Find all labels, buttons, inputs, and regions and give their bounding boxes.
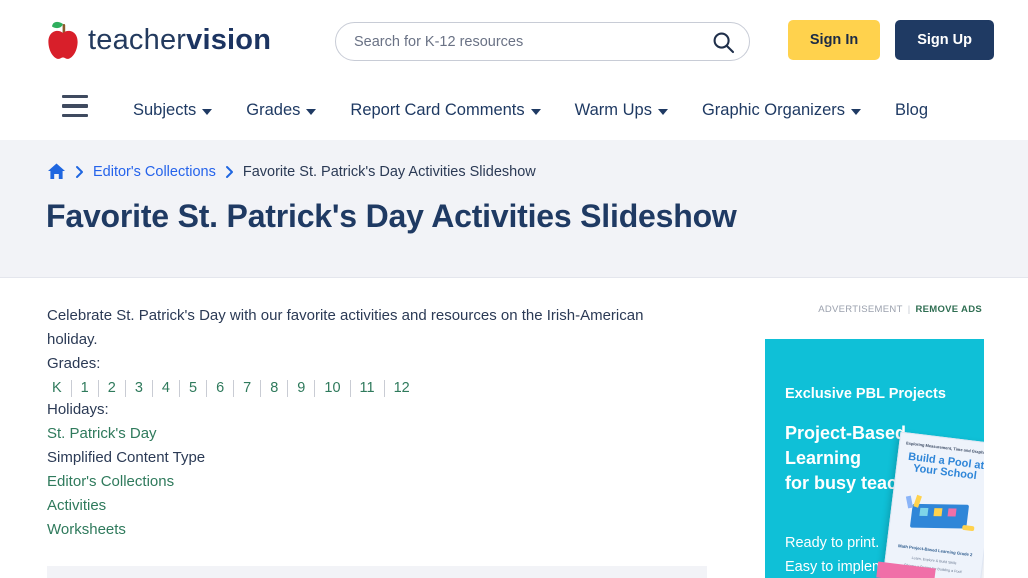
search-icon: [712, 31, 735, 54]
grade-link-1[interactable]: 1: [72, 379, 98, 398]
grade-link-2[interactable]: 2: [99, 379, 125, 398]
chevron-down-icon: [202, 109, 212, 115]
sign-in-button[interactable]: Sign In: [788, 20, 880, 60]
nav-item-blog[interactable]: Blog: [878, 80, 945, 140]
sign-up-button[interactable]: Sign Up: [895, 20, 994, 60]
title-band: Editor's Collections Favorite St. Patric…: [0, 140, 1028, 278]
ad-card-illustration: [901, 492, 980, 543]
type-link-worksheets[interactable]: Worksheets: [47, 518, 712, 542]
nav-label: Subjects: [133, 80, 196, 140]
page-root: teachervision Sign In Sign Up Subjects: [0, 0, 1028, 578]
hamburger-icon[interactable]: [62, 95, 88, 117]
grades-list: K 1 2 3 4 5 6 7 8 9 10: [47, 379, 712, 398]
nav-item-report-card-comments[interactable]: Report Card Comments: [333, 80, 557, 140]
auth-buttons: Sign In Sign Up: [788, 20, 994, 60]
chevron-down-icon: [658, 109, 668, 115]
grade-link-12[interactable]: 12: [385, 379, 419, 398]
logo-text-light: teacher: [88, 24, 186, 56]
breadcrumb-item-editors-collections[interactable]: Editor's Collections: [93, 164, 216, 180]
home-icon[interactable]: [47, 162, 66, 181]
top-header: teachervision Sign In Sign Up: [0, 0, 1028, 80]
nav-label: Report Card Comments: [350, 80, 524, 140]
apple-icon: [46, 20, 80, 60]
nav-item-subjects[interactable]: Subjects: [116, 80, 229, 140]
nav-label: Grades: [246, 80, 300, 140]
type-link-editors-collections[interactable]: Editor's Collections: [47, 470, 712, 494]
nav-label: Warm Ups: [575, 80, 652, 140]
nav-label: Graphic Organizers: [702, 80, 845, 140]
holiday-link-st-patricks-day[interactable]: St. Patrick's Day: [47, 422, 712, 446]
ad-worksheet-image: Exploring Measurement, Time and Graphing…: [882, 432, 984, 578]
chevron-right-icon: [225, 165, 234, 179]
grade-link-7[interactable]: 7: [234, 379, 260, 398]
ad-card-title: Build a Pool at Your School: [902, 451, 984, 483]
grade-link-k[interactable]: K: [47, 379, 71, 398]
nav-label: Blog: [895, 80, 928, 140]
breadcrumb-item-current: Favorite St. Patrick's Day Activities Sl…: [243, 164, 536, 180]
nav-item-warm-ups[interactable]: Warm Ups: [558, 80, 685, 140]
grade-link-4[interactable]: 4: [153, 379, 179, 398]
main-navigation: Subjects Grades Report Card Comments War…: [0, 80, 1028, 140]
breadcrumb: Editor's Collections Favorite St. Patric…: [47, 162, 536, 181]
grade-link-9[interactable]: 9: [288, 379, 314, 398]
site-logo[interactable]: teachervision: [46, 20, 271, 60]
chevron-down-icon: [851, 109, 861, 115]
nav-item-grades[interactable]: Grades: [229, 80, 333, 140]
grade-link-6[interactable]: 6: [207, 379, 233, 398]
nav-item-graphic-organizers[interactable]: Graphic Organizers: [685, 80, 878, 140]
advertisement-banner[interactable]: Exclusive PBL Projects Project-Based Lea…: [765, 339, 984, 578]
search-button[interactable]: [712, 31, 735, 54]
chevron-down-icon: [531, 109, 541, 115]
grade-link-3[interactable]: 3: [126, 379, 152, 398]
chevron-right-icon: [75, 165, 84, 179]
grade-link-10[interactable]: 10: [315, 379, 349, 398]
search-bar[interactable]: [335, 22, 750, 61]
grade-link-8[interactable]: 8: [261, 379, 287, 398]
grade-link-5[interactable]: 5: [180, 379, 206, 398]
logo-wordmark: teachervision: [88, 26, 271, 55]
advertisement-column: ADVERTISEMENT | REMOVE ADS Exclusive PBL…: [765, 304, 984, 578]
slideshow-placeholder: [47, 566, 707, 578]
ad-eyebrow: Exclusive PBL Projects: [785, 386, 946, 402]
search-input[interactable]: [336, 23, 676, 60]
type-link-activities[interactable]: Activities: [47, 494, 712, 518]
remove-ads-link[interactable]: REMOVE ADS: [915, 304, 982, 315]
resource-details: Celebrate St. Patrick's Day with our fav…: [47, 304, 712, 542]
logo-text-bold: vision: [186, 24, 271, 56]
advertisement-label: ADVERTISEMENT: [818, 304, 903, 315]
content-type-label: Simplified Content Type: [47, 446, 712, 470]
advertisement-header: ADVERTISEMENT | REMOVE ADS: [765, 304, 984, 315]
nav-items: Subjects Grades Report Card Comments War…: [116, 80, 945, 140]
page-title: Favorite St. Patrick's Day Activities Sl…: [46, 198, 737, 235]
grades-label: Grades:: [47, 352, 712, 376]
main-content: Celebrate St. Patrick's Day with our fav…: [0, 279, 1028, 578]
divider: |: [908, 304, 911, 315]
chevron-down-icon: [306, 109, 316, 115]
grade-link-11[interactable]: 11: [351, 379, 384, 398]
holidays-label: Holidays:: [47, 398, 712, 422]
resource-description: Celebrate St. Patrick's Day with our fav…: [47, 304, 672, 352]
